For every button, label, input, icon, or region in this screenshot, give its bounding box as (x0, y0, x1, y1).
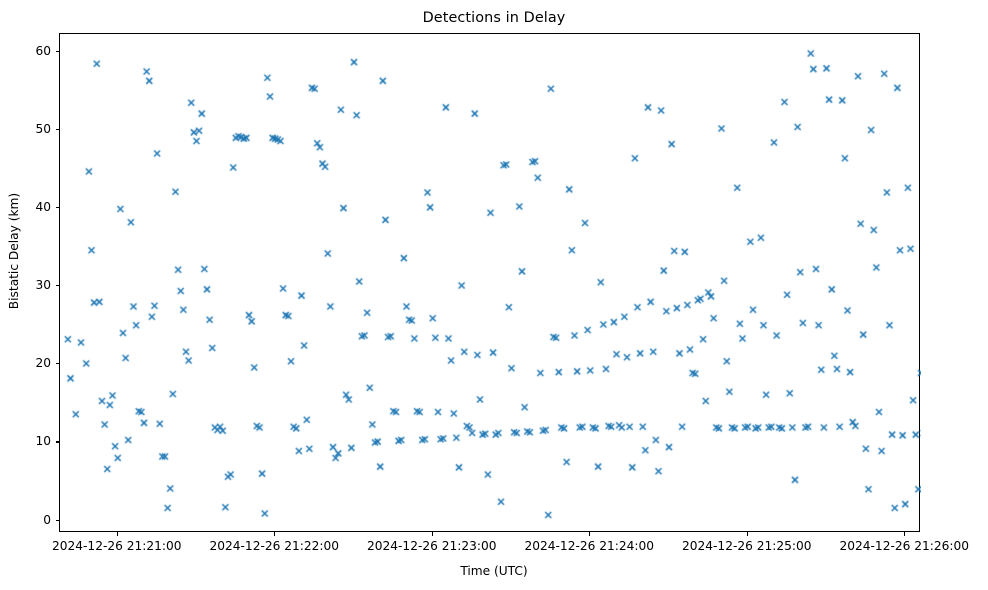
y-tick-label-group: 0102030405060 (0, 33, 51, 532)
figure-canvas: Detections in Delay Bistatic Delay (km) … (0, 0, 988, 590)
x-tick-label: 2024-12-26 21:24:00 (525, 539, 654, 553)
chart-title: Detections in Delay (0, 10, 988, 26)
x-tick-label: 2024-12-26 21:25:00 (682, 539, 811, 553)
plot-axes-frame (59, 33, 920, 532)
x-tick-label: 2024-12-26 21:21:00 (52, 539, 181, 553)
x-tick-label: 2024-12-26 21:23:00 (367, 539, 496, 553)
y-tick-label: 50 (35, 122, 51, 136)
y-tick-label: 10 (35, 434, 51, 448)
y-tick-label: 40 (35, 200, 51, 214)
x-tick-label: 2024-12-26 21:22:00 (210, 539, 339, 553)
x-tick-label: 2024-12-26 21:26:00 (840, 539, 969, 553)
y-tick-label: 30 (35, 278, 51, 292)
y-tick-label: 0 (43, 513, 51, 527)
y-tick-label: 20 (35, 356, 51, 370)
scatter-plot-area[interactable] (60, 34, 921, 533)
y-tick-label: 60 (35, 44, 51, 58)
x-axis-label: Time (UTC) (0, 564, 988, 578)
